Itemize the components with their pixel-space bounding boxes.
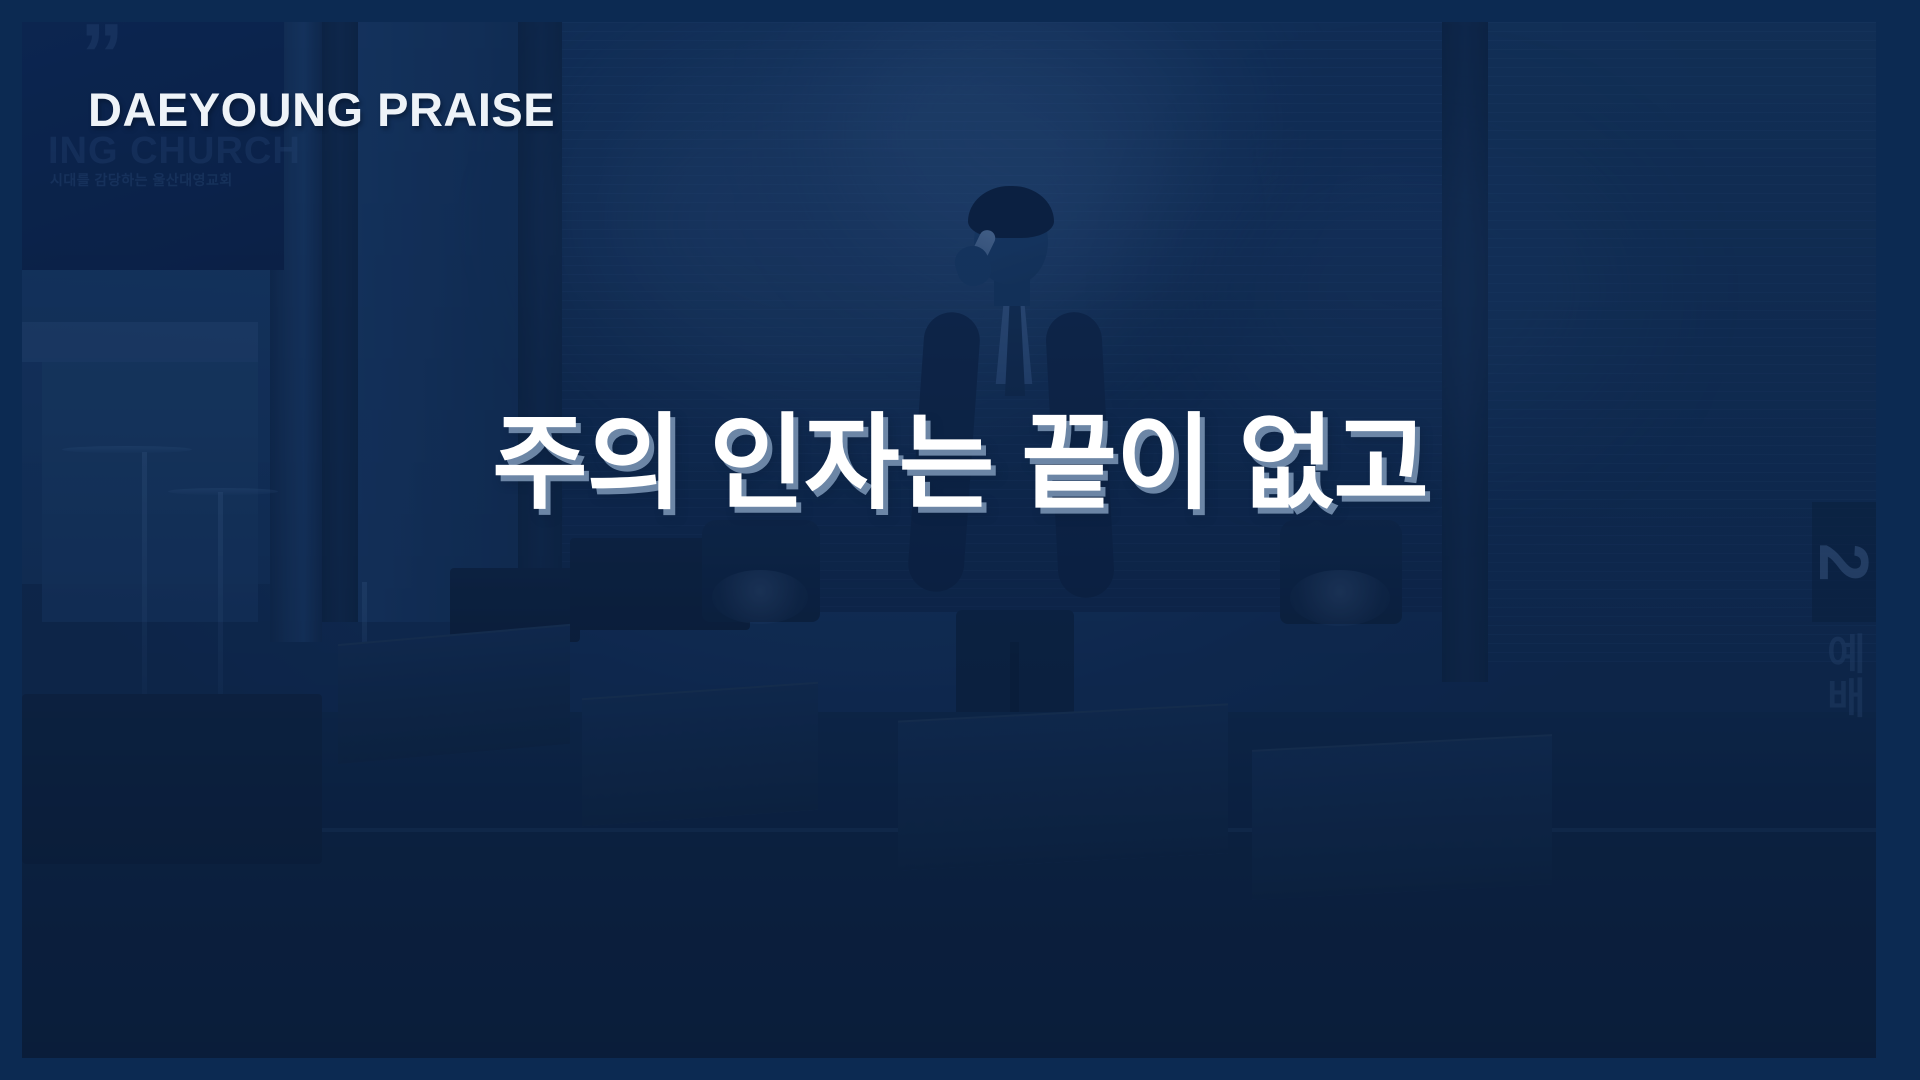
lyric-line: 주의 인자는 끝이 없고 (0, 378, 1920, 529)
praise-lyric-slide: ” ING CHURCH 시대를 감당하는 울산대영교회 (0, 0, 1920, 1080)
stage-photo-background: ” ING CHURCH 시대를 감당하는 울산대영교회 (22, 22, 1876, 1058)
brand-title: DAEYOUNG PRAISE (88, 82, 555, 137)
stage-scene: ” ING CHURCH 시대를 감당하는 울산대영교회 (22, 22, 1876, 1058)
color-grade-overlay (22, 22, 1876, 1058)
